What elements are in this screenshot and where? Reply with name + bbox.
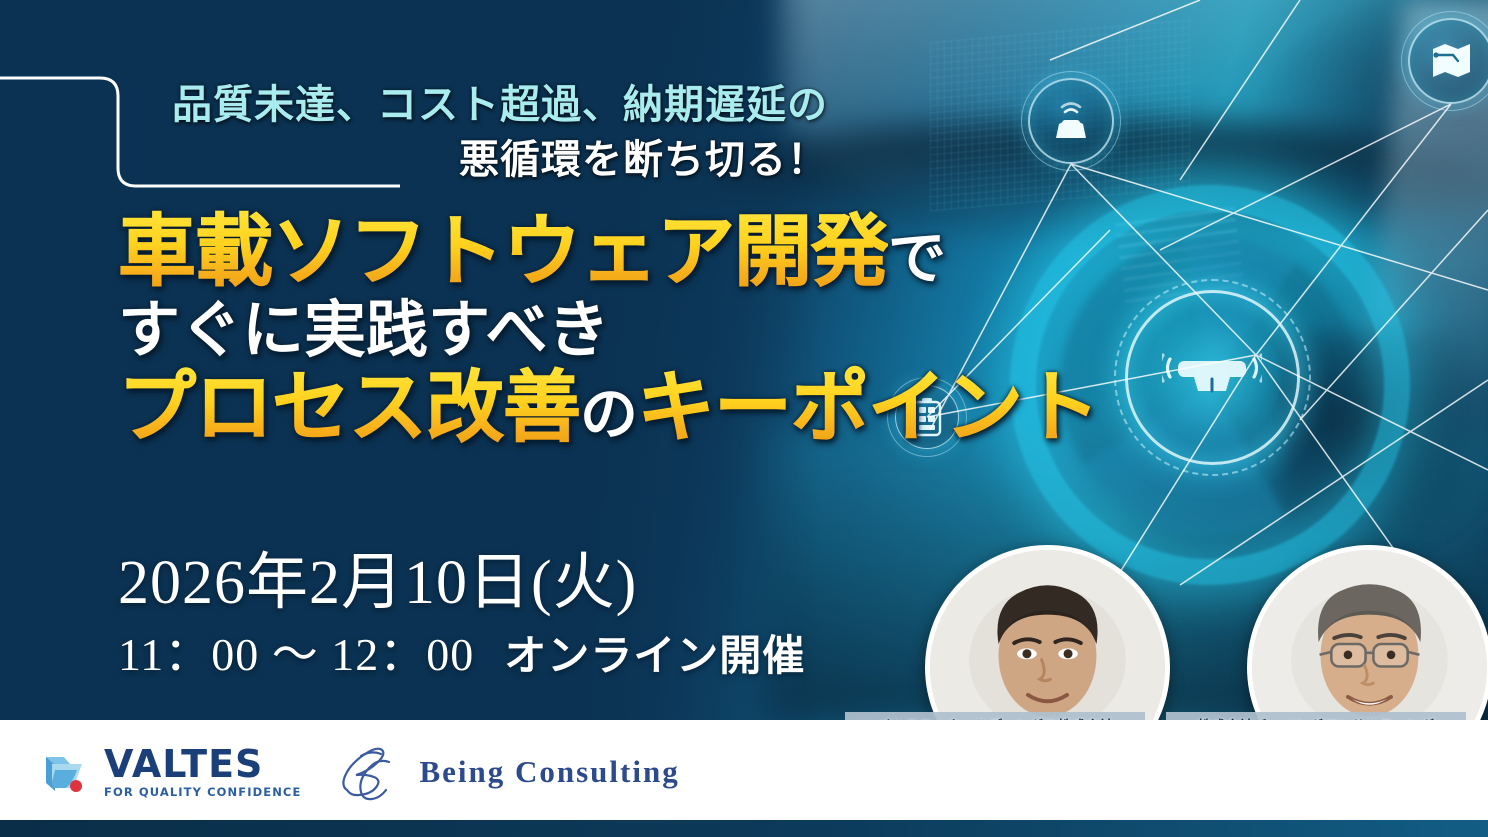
being-consulting-logo: Being Consulting [335, 742, 679, 802]
title-line-2-text: すぐに実践すべき [118, 293, 610, 366]
valtes-logo: VALTES FOR QUALITY CONFIDENCE [40, 745, 301, 799]
sponsor-logos: VALTES FOR QUALITY CONFIDENCE Being Cons… [40, 742, 680, 802]
event-format: オンライン開催 [504, 631, 805, 680]
footer-accent-bar [0, 820, 1488, 837]
webinar-banner: 品質未達、コスト超過、納期遅延の 悪循環を断ち切る！ 車載ソフトウェア開発で す… [0, 0, 1488, 837]
main-title: 車載ソフトウェア開発で すぐに実践すべき プロセス改善のキーポイント [118, 213, 1178, 451]
valtes-tagline: FOR QUALITY CONFIDENCE [104, 787, 301, 799]
valtes-mark-icon [40, 745, 94, 799]
title-line-1-gold: 車載ソフトウェア開発 [118, 207, 888, 297]
event-date: 2026年2月10日(火) [118, 548, 805, 619]
title-line-3-white: の [580, 380, 637, 448]
schedule-block: 2026年2月10日(火) 11：00 ～ 12：00オンライン開催 [118, 548, 805, 682]
valtes-wordmark: VALTES FOR QUALITY CONFIDENCE [104, 745, 301, 799]
event-time-row: 11：00 ～ 12：00オンライン開催 [118, 627, 805, 682]
title-line-3-gold-b: キーポイント [637, 363, 1099, 453]
title-line-3: プロセス改善のキーポイント [118, 366, 1178, 450]
title-line-3-gold-a: プロセス改善 [118, 363, 580, 453]
lead-line-1: 品質未達、コスト超過、納期遅延の [0, 78, 828, 133]
lead-copy: 品質未達、コスト超過、納期遅延の 悪循環を断ち切る！ [0, 78, 840, 188]
lead-line-2: 悪循環を断ち切る！ [0, 133, 828, 188]
title-line-1-white: で [888, 224, 945, 292]
event-time: 11：00 ～ 12：00 [118, 629, 474, 680]
footer-logo-bar: VALTES FOR QUALITY CONFIDENCE Being Cons… [0, 720, 1488, 820]
bg-windshield-shape [780, 0, 1488, 210]
valtes-name: VALTES [104, 745, 301, 783]
bc-monogram-icon [335, 742, 407, 802]
title-line-1: 車載ソフトウェア開発で [118, 213, 1178, 291]
connected-car-icon [1028, 78, 1114, 164]
being-consulting-name: Being Consulting [419, 754, 679, 790]
title-line-2: すぐに実践すべき [118, 295, 1178, 364]
navigation-map-icon [1408, 18, 1488, 104]
